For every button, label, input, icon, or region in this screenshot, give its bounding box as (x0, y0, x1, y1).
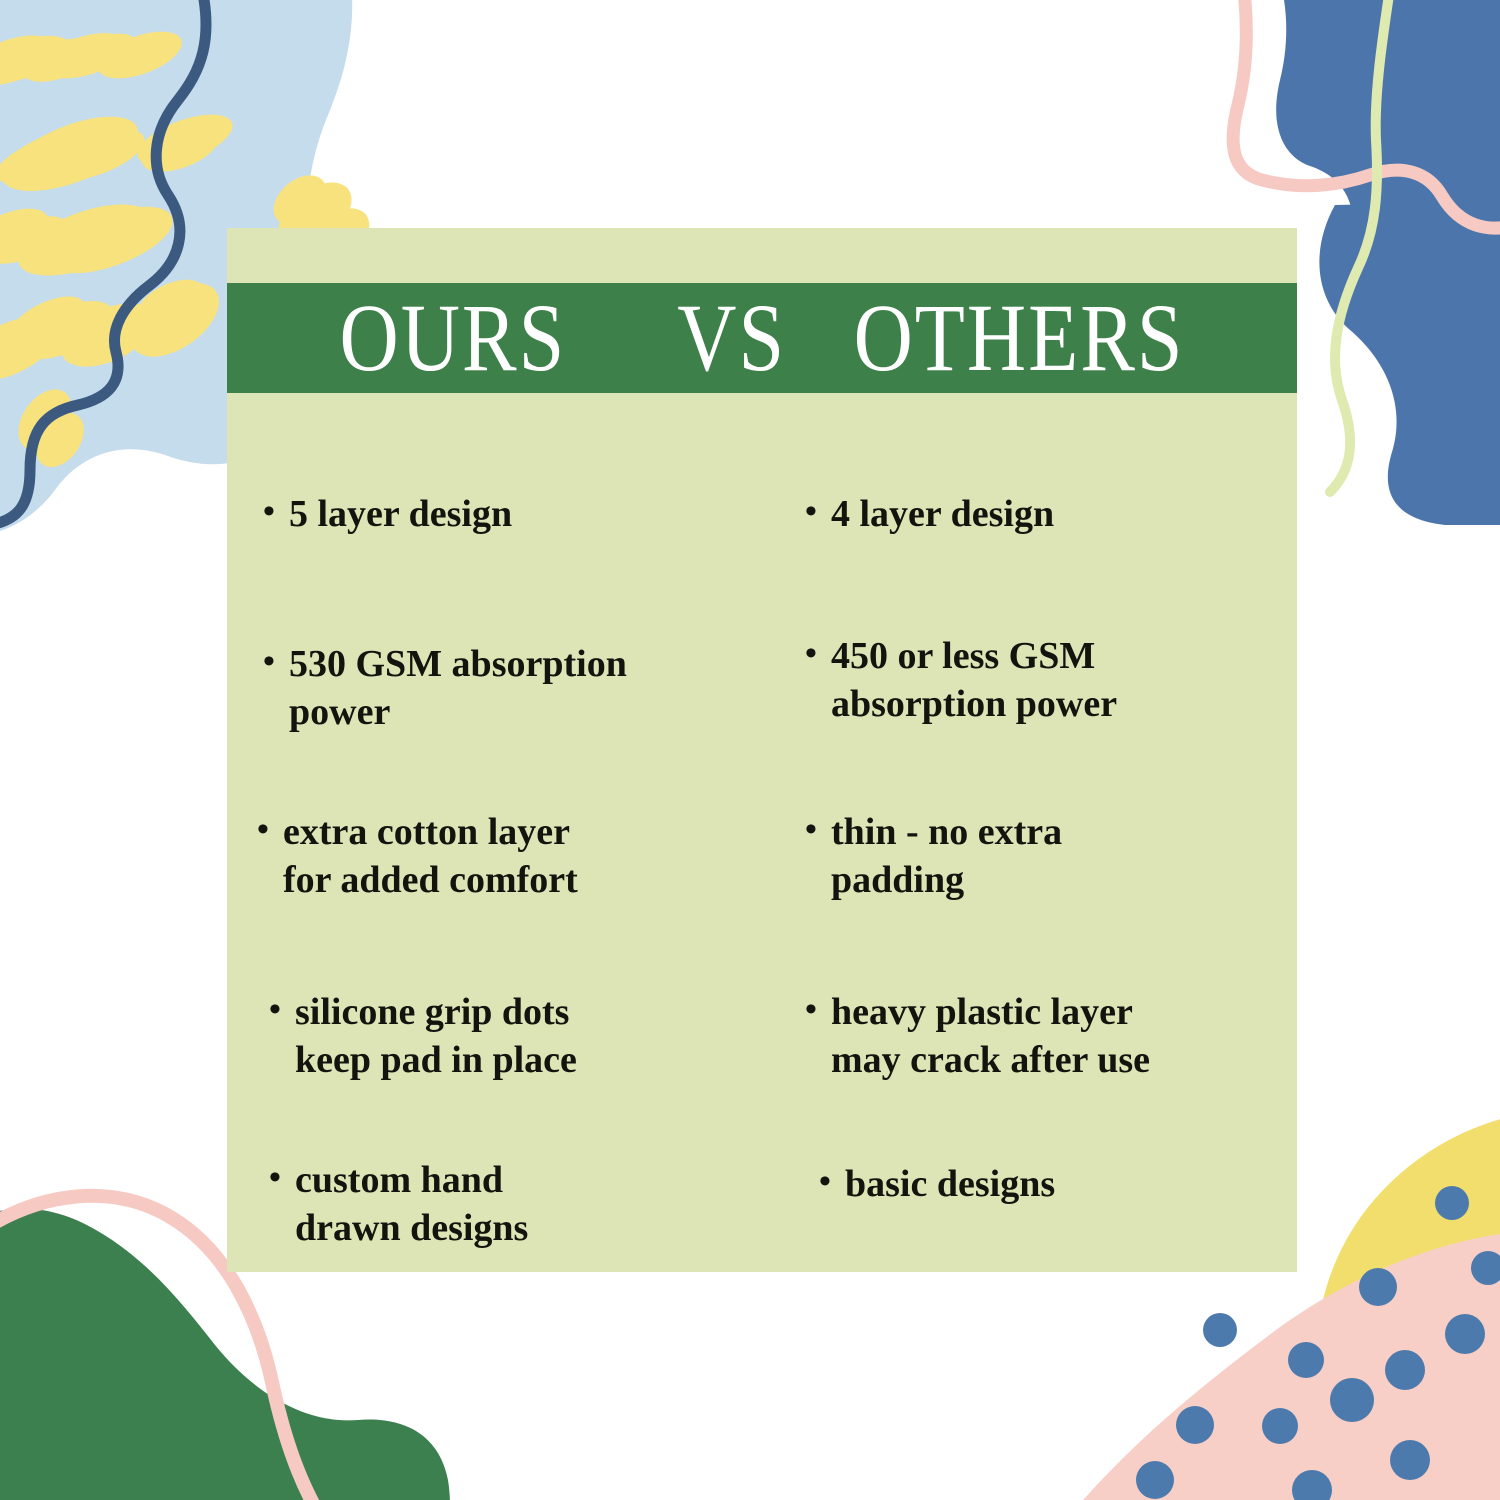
column-others: • 4 layer design • 450 or less GSM absor… (787, 408, 1297, 1272)
comparison-columns: • 5 layer design • 530 GSM absorption po… (227, 408, 1297, 1272)
list-item: • 5 layer design (263, 490, 768, 538)
bullet-icon: • (819, 1160, 845, 1203)
bullet-icon: • (263, 640, 289, 683)
bullet-icon: • (805, 632, 831, 675)
list-item: • 450 or less GSM absorption power (805, 632, 1275, 729)
list-item-text: silicone grip dots keep pad in place (295, 988, 774, 1085)
bullet-icon: • (269, 988, 295, 1031)
list-item-text: 4 layer design (831, 490, 1275, 538)
column-ours: • 5 layer design • 530 GSM absorption po… (227, 408, 787, 1272)
list-item: • heavy plastic layer may crack after us… (805, 988, 1275, 1085)
list-item: • 530 GSM absorption power (263, 640, 768, 737)
bullet-icon: • (805, 988, 831, 1031)
list-item: • extra cotton layer for added comfort (257, 808, 762, 905)
top-right-dark-blue-blob (1265, 0, 1500, 488)
list-item: • silicone grip dots keep pad in place (269, 988, 774, 1085)
bullet-icon: • (269, 1156, 295, 1199)
list-item-text: extra cotton layer for added comfort (283, 808, 762, 905)
list-item-text: 530 GSM absorption power (289, 640, 768, 737)
top-right-light-green-curve (1330, 0, 1392, 492)
comparison-card: OURS VS OTHERS • 5 layer design • 530 GS… (227, 228, 1297, 1272)
list-item-text: 5 layer design (289, 490, 768, 538)
top-right-pink-curve (1233, 0, 1500, 228)
bottom-right-yellow-circle (1317, 1110, 1500, 1392)
bullet-icon: • (263, 490, 289, 533)
list-item-text: heavy plastic layer may crack after use (831, 988, 1275, 1085)
list-item-text: basic designs (845, 1160, 1289, 1208)
list-item: • basic designs (819, 1160, 1289, 1208)
top-left-navy-wavy-line (0, 0, 206, 525)
list-item-text: 450 or less GSM absorption power (831, 632, 1275, 729)
list-item: • custom hand drawn designs (269, 1156, 774, 1253)
list-item: • thin - no extra padding (805, 808, 1275, 905)
list-item: • 4 layer design (805, 490, 1275, 538)
bullet-icon: • (805, 808, 831, 851)
list-item-text: custom hand drawn designs (295, 1156, 774, 1253)
bullet-icon: • (805, 490, 831, 533)
top-right-dark-blue-blob-lower (1319, 200, 1500, 525)
bullet-icon: • (257, 808, 283, 851)
infographic-canvas: OURS VS OTHERS • 5 layer design • 530 GS… (0, 0, 1500, 1500)
list-item-text: thin - no extra padding (831, 808, 1275, 905)
